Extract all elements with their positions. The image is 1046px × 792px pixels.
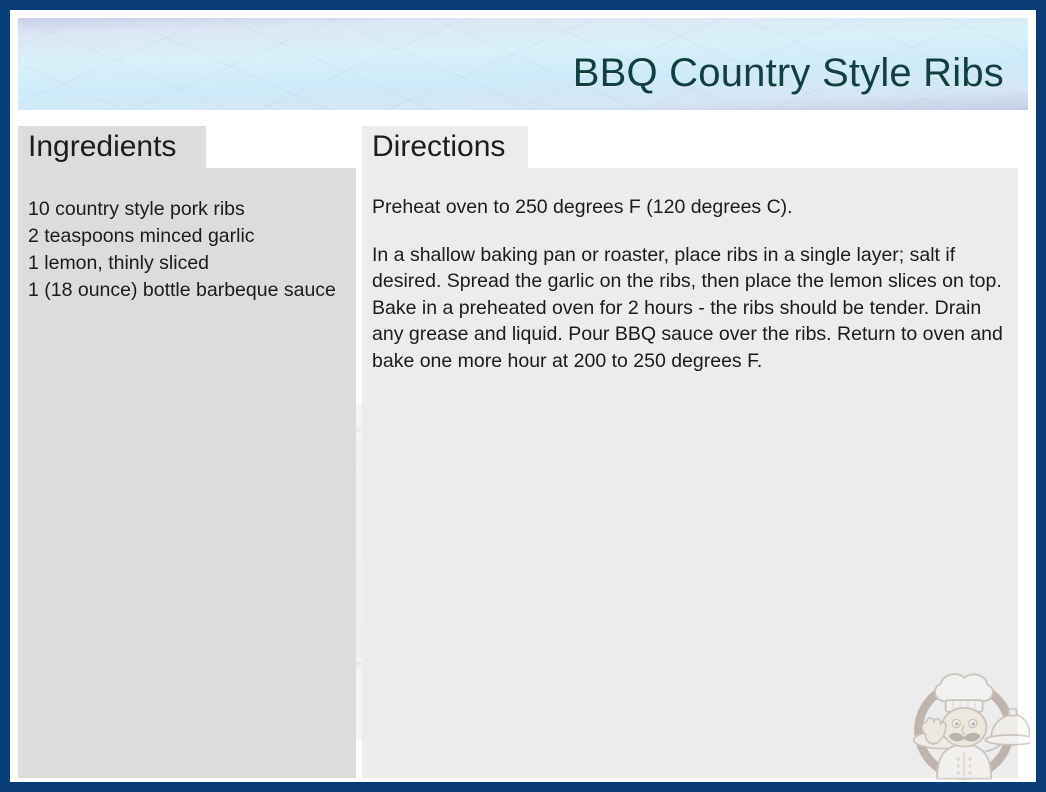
page-title: BBQ Country Style Ribs	[573, 51, 1004, 96]
ingredients-panel: 10 country style pork ribs 2 teaspoons m…	[18, 168, 356, 778]
directions-paragraph: Preheat oven to 250 degrees F (120 degre…	[372, 194, 1004, 221]
list-item: 2 teaspoons minced garlic	[28, 223, 344, 250]
list-item: 1 (18 ounce) bottle barbeque sauce	[28, 277, 344, 304]
ingredient-list: 10 country style pork ribs 2 teaspoons m…	[28, 196, 344, 304]
directions-paragraph: In a shallow baking pan or roaster, plac…	[372, 242, 1004, 375]
ingredients-heading-label: Ingredients	[28, 132, 176, 162]
recipe-slide: BBQ Country Style Ribs Ingredients 10 co…	[0, 0, 1046, 792]
ingredients-heading-tab: Ingredients	[18, 126, 206, 168]
title-banner: BBQ Country Style Ribs	[18, 18, 1028, 110]
directions-panel: Preheat oven to 250 degrees F (120 degre…	[362, 168, 1018, 778]
directions-heading-tab: Directions	[362, 126, 528, 168]
list-item: 10 country style pork ribs	[28, 196, 344, 223]
list-item: 1 lemon, thinly sliced	[28, 250, 344, 277]
directions-heading-label: Directions	[372, 132, 505, 162]
